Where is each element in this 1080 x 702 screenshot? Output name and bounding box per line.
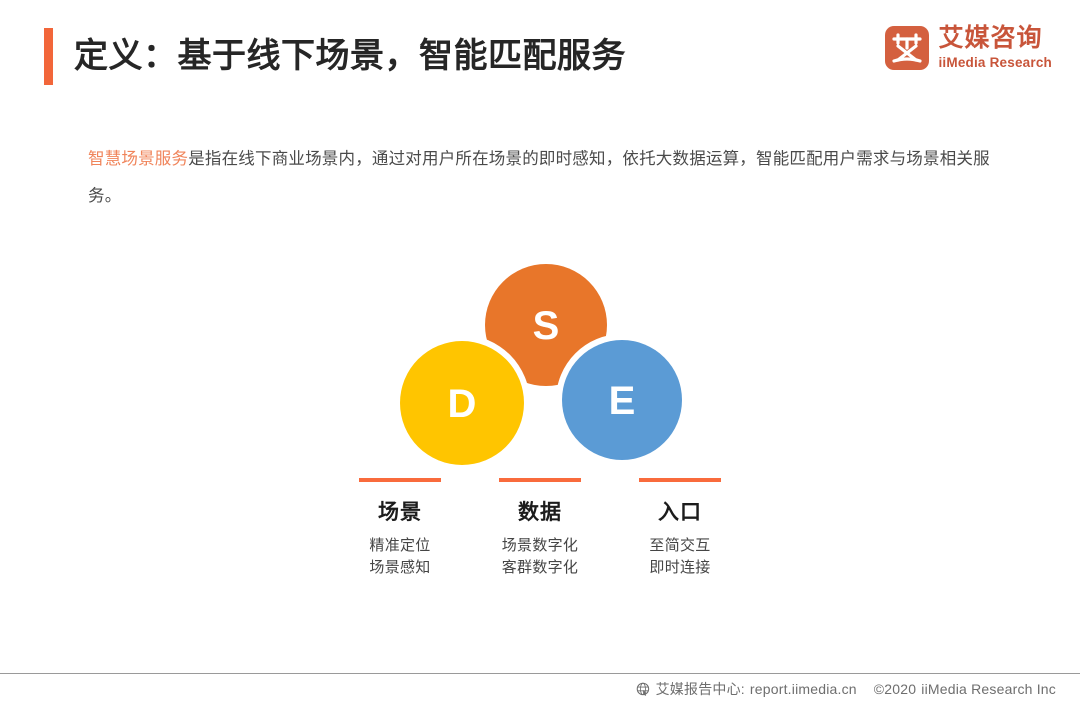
definition-paragraph: 智慧场景服务是指在线下商业场景内，通过对用户所在场景的即时感知，依托大数据运算，… xyxy=(88,141,998,215)
legend-line: 客群数字化 xyxy=(486,557,594,579)
slide-root: 定义：基于线下场景，智能匹配服务 艾媒咨询 iiMedia Research 智… xyxy=(0,0,1080,702)
sde-diagram: S D E 场景 精准定位 场景感知 数据 场景数字化 客群数字化 xyxy=(330,250,750,600)
definition-keyword: 智慧场景服务 xyxy=(88,150,188,168)
brand-name-en: iiMedia Research xyxy=(938,56,1052,70)
legend-title-scene: 场景 xyxy=(346,496,454,526)
brand-logo-text: 艾媒咨询 iiMedia Research xyxy=(938,26,1052,70)
slide-header: 定义：基于线下场景，智能匹配服务 艾媒咨询 iiMedia Research xyxy=(0,0,1080,110)
legend-bar-data xyxy=(499,478,581,482)
legend-title-entry: 入口 xyxy=(626,496,734,526)
title-accent-bar xyxy=(44,28,53,85)
footer-report-center-label: 艾媒报告中心: xyxy=(656,679,745,699)
page-title: 定义：基于线下场景，智能匹配服务 xyxy=(74,29,626,83)
footer-copyright: ©2020 xyxy=(874,681,916,697)
legend-bar-scene xyxy=(359,478,441,482)
legend-column-data: 数据 场景数字化 客群数字化 xyxy=(486,478,594,579)
definition-body: 是指在线下商业场景内，通过对用户所在场景的即时感知，依托大数据运算，智能匹配用户… xyxy=(88,150,990,205)
footer-company: iiMedia Research Inc xyxy=(921,681,1056,697)
footer-divider xyxy=(0,673,1080,674)
brand-name-cn: 艾媒咨询 xyxy=(938,26,1052,52)
legend-title-data: 数据 xyxy=(486,496,594,526)
sde-circle-group: S D E xyxy=(330,250,750,475)
slide-footer: 艾媒报告中心: report.iimedia.cn ©2020 iiMedia … xyxy=(636,679,1056,699)
legend-column-entry: 入口 至简交互 即时连接 xyxy=(626,478,734,579)
legend-line: 场景数字化 xyxy=(486,535,594,557)
scene-circle-letter: S xyxy=(533,304,560,348)
legend-line: 精准定位 xyxy=(346,535,454,557)
entry-circle-letter: E xyxy=(609,379,636,423)
legend-lines-scene: 精准定位 场景感知 xyxy=(346,535,454,579)
brand-logo: 艾媒咨询 iiMedia Research xyxy=(885,26,1052,70)
legend-line: 即时连接 xyxy=(626,557,734,579)
legend-lines-data: 场景数字化 客群数字化 xyxy=(486,535,594,579)
legend-column-scene: 场景 精准定位 场景感知 xyxy=(346,478,454,579)
footer-url[interactable]: report.iimedia.cn xyxy=(750,681,857,697)
legend-line: 至简交互 xyxy=(626,535,734,557)
sde-legend: 场景 精准定位 场景感知 数据 场景数字化 客群数字化 入口 至简交互 xyxy=(330,478,750,579)
globe-icon xyxy=(636,682,651,697)
legend-bar-entry xyxy=(639,478,721,482)
data-circle-letter: D xyxy=(448,382,477,426)
legend-line: 场景感知 xyxy=(346,557,454,579)
iimedia-logo-icon xyxy=(885,26,929,70)
legend-lines-entry: 至简交互 即时连接 xyxy=(626,535,734,579)
